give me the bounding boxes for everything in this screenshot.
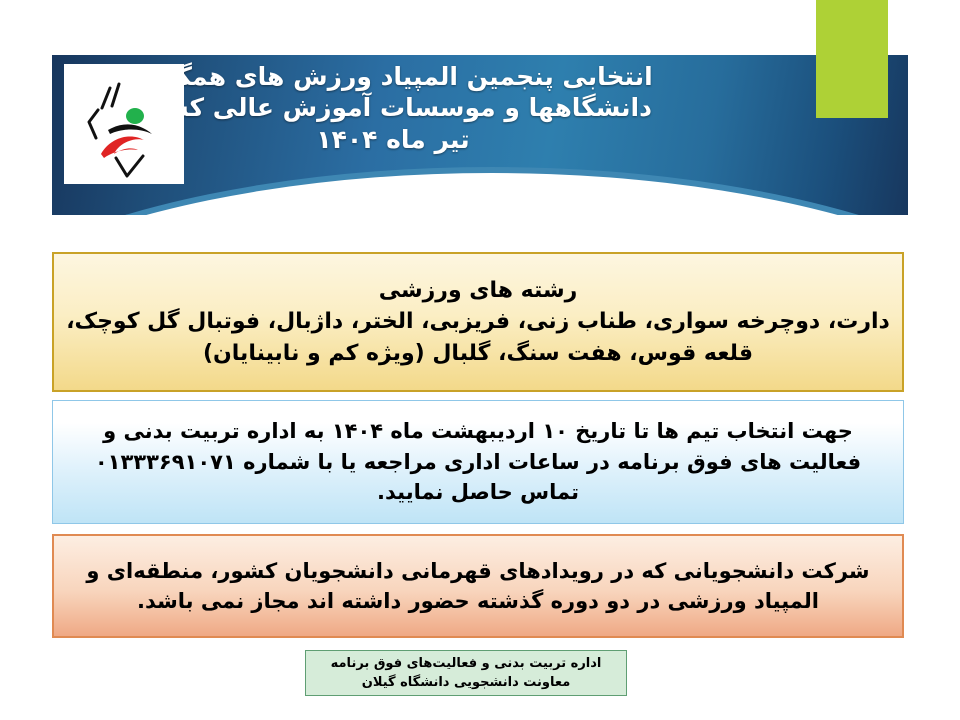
participation-restriction-box: شرکت دانشجویانی که در رویدادهای قهرمانی … <box>52 534 904 638</box>
green-accent-tab <box>816 0 888 118</box>
deadline-contact-box: جهت انتخاب تیم ها تا تاریخ ۱۰ اردیبهشت م… <box>52 400 904 524</box>
organization-logo <box>64 64 184 184</box>
athlete-figure-logo-icon <box>64 64 184 184</box>
poster-page: { "header": { "title": "انتخابی پنجمین ا… <box>0 0 960 720</box>
sports-list-box: رشته های ورزشی دارت، دوچرخه سواری، طناب … <box>52 252 904 392</box>
footer-department-box: اداره تربیت بدنی و فعالیت‌های فوق برنامه… <box>305 650 627 696</box>
